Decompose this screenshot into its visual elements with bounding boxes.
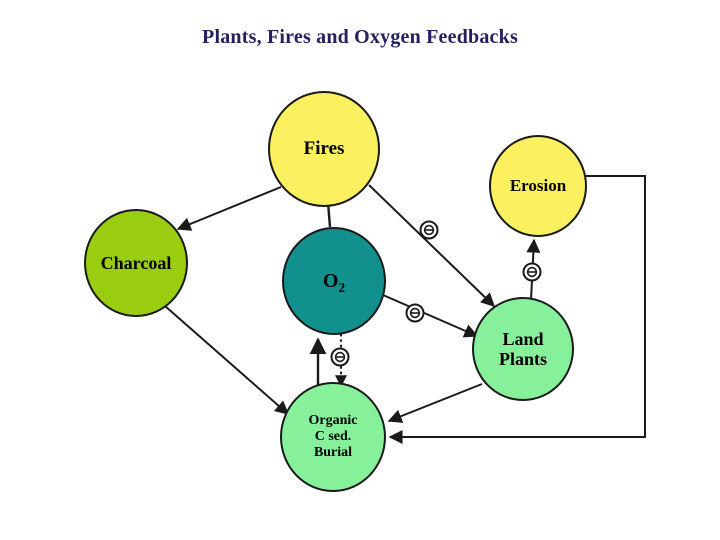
node-organic-c-burial[interactable]: Organic C sed. Burial <box>280 382 386 492</box>
edge-oxygen-to-land-plants <box>383 295 477 336</box>
node-land-plants-line-2: Plants <box>499 349 547 369</box>
edge-land-plants-to-organic-c-burial <box>389 384 482 421</box>
node-oxygen-label-subscript: 2 <box>338 280 345 295</box>
marker-land-plants-erosion <box>524 264 541 281</box>
node-erosion-label: Erosion <box>506 176 570 195</box>
edge-charcoal-to-organic-c-burial <box>165 306 288 414</box>
node-fires-label: Fires <box>300 138 349 159</box>
node-organic-c-burial-line-2: C sed. <box>315 429 352 444</box>
diagram-page: Plants, Fires and Oxygen Feedbacks <box>0 0 720 540</box>
node-land-plants[interactable]: Land Plants <box>472 297 574 401</box>
marker-oxygen-organic-c <box>332 349 349 366</box>
marker-oxygen-land-plants <box>407 305 424 322</box>
node-organic-c-burial-line-1: Organic <box>309 413 358 428</box>
node-land-plants-label: Land Plants <box>495 329 551 369</box>
node-fires[interactable]: Fires <box>268 91 380 207</box>
node-erosion[interactable]: Erosion <box>489 135 587 237</box>
node-oxygen[interactable]: O2 <box>282 227 386 335</box>
node-oxygen-label: O2 <box>319 270 349 292</box>
edge-fires-to-charcoal <box>178 187 281 229</box>
node-charcoal[interactable]: Charcoal <box>84 209 188 317</box>
node-oxygen-label-base: O <box>323 270 339 292</box>
node-organic-c-burial-label: Organic C sed. Burial <box>305 413 362 460</box>
node-charcoal-label: Charcoal <box>97 253 176 273</box>
node-land-plants-line-1: Land <box>502 329 543 349</box>
marker-fires-land-plants <box>421 222 438 239</box>
edge-fires-to-land-plants <box>369 185 494 306</box>
node-organic-c-burial-line-3: Burial <box>314 445 352 460</box>
